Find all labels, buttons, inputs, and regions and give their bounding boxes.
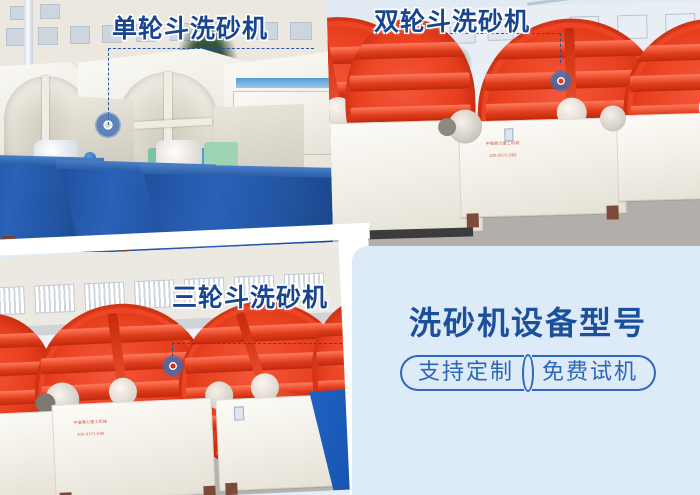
badge-custom-support[interactable]: 支持定制 [400, 355, 524, 391]
badge-free-trial[interactable]: 免费试机 [532, 355, 656, 391]
washer-tank-right [616, 112, 700, 201]
tank-control-panel [234, 406, 245, 420]
tank-foot [606, 205, 618, 219]
building-window [290, 22, 312, 40]
wheel-vane [350, 73, 470, 91]
callout-line-horizontal-single [108, 48, 314, 49]
callout-line-vertical-double [560, 33, 561, 63]
washer-tank-center [51, 398, 215, 495]
building-window [40, 4, 60, 19]
photo-panel-double-wheel: 中誉鼎力重工机械 400-0371-888 [326, 0, 700, 257]
info-card: 洗砂机设备型号 支持定制 免费试机 [352, 246, 700, 495]
photo-double-wheel-scene: 中誉鼎力重工机械 400-0371-888 [326, 0, 700, 257]
panel-title-double-wheel: 双轮斗洗砂机 [374, 2, 530, 38]
callout-target-marker-double [550, 70, 572, 92]
tank-foot [467, 213, 479, 227]
building-window [38, 27, 58, 45]
wheel-vane [349, 41, 469, 59]
tank-control-panel [504, 128, 513, 141]
panel-title-single-wheel: 单轮斗洗砂机 [112, 9, 268, 45]
building-window [6, 28, 26, 46]
callout-target-marker-single [95, 112, 121, 138]
badge-divider-icon [522, 354, 534, 392]
callout-target-marker-triple [162, 355, 184, 377]
info-card-title: 洗砂机设备型号 [352, 298, 700, 344]
callout-line-horizontal-triple [172, 343, 342, 344]
info-card-badge-row: 支持定制 免费试机 [352, 354, 700, 392]
panel-title-triple-wheel: 三轮斗洗砂机 [172, 278, 328, 314]
window-grill [34, 284, 75, 314]
tank-foot [203, 486, 216, 495]
tank-foot [225, 483, 238, 495]
window-grill [0, 286, 25, 316]
building-window [70, 26, 90, 44]
poster-stage: 单轮斗洗砂机 [0, 0, 700, 495]
washer-tank-center [458, 117, 627, 218]
